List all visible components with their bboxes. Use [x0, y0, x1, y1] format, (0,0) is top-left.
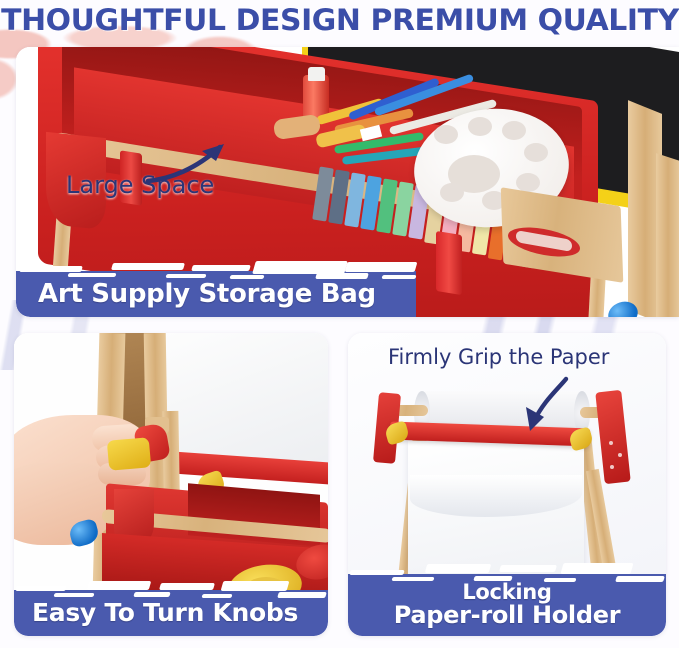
curved-arrow-down-left-icon — [508, 375, 574, 437]
panel-locking-paper-roll-holder: Firmly Grip the Paper Locking Paper-roll… — [348, 333, 666, 636]
panel-art-supply-storage-bag: Large Space Art Supply Storage Bag — [16, 47, 679, 317]
caption-text-paper-roll-line2: Paper-roll Holder — [348, 603, 666, 627]
panel-easy-to-turn-knobs: Easy To Turn Knobs — [14, 333, 328, 636]
callout-firmly-grip-the-paper: Firmly Grip the Paper — [388, 345, 609, 369]
caption-banner-paper-roll: Locking Paper-roll Holder — [348, 574, 666, 636]
caption-text-art-supply: Art Supply Storage Bag — [38, 281, 376, 308]
caption-banner-easy-knobs: Easy To Turn Knobs — [14, 590, 328, 636]
caption-banner-art-supply: Art Supply Storage Bag — [16, 271, 416, 317]
curved-arrow-up-right-icon — [144, 139, 234, 185]
caption-text-easy-knobs: Easy To Turn Knobs — [32, 600, 298, 626]
page-title: THOUGHTFUL DESIGN PREMIUM QUALITY — [1, 3, 679, 37]
infographic-page: THOUGHTFUL DESIGN PREMIUM QUALITY — [0, 0, 679, 648]
caption-text-paper-roll-line1: Locking — [348, 582, 666, 603]
header: THOUGHTFUL DESIGN PREMIUM QUALITY — [0, 0, 679, 40]
yellow-knob-icon — [107, 437, 151, 471]
